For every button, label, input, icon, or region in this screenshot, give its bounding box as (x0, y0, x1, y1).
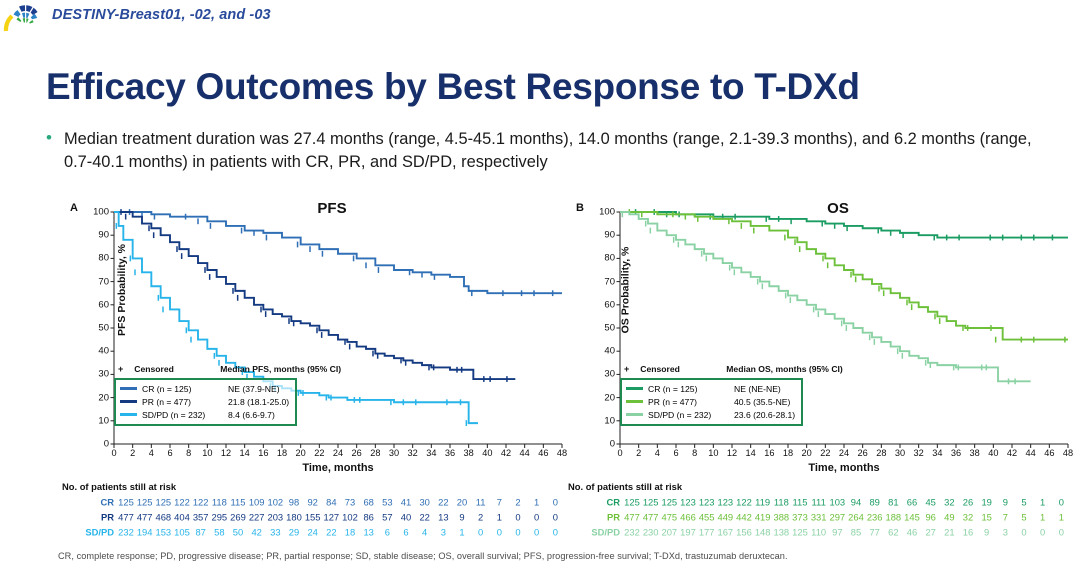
x-axis-tick: 18 (783, 448, 793, 458)
at-risk-value: 18 (345, 526, 355, 537)
at-risk-value: 86 (363, 511, 373, 522)
at-risk-value: 123 (699, 496, 715, 507)
km-curve (114, 212, 562, 293)
x-axis-tick: 48 (1063, 448, 1073, 458)
at-risk-value: 449 (718, 511, 734, 522)
at-risk-value: 11 (476, 496, 486, 507)
legend-median-value: NE (NE-NE) (734, 384, 781, 394)
x-axis-tick: 38 (464, 448, 474, 458)
at-risk-value: 269 (230, 511, 246, 522)
at-risk-value: 42 (251, 526, 261, 537)
at-risk-value: 102 (342, 511, 358, 522)
at-risk-value: 0 (1059, 496, 1064, 507)
at-risk-value: 0 (553, 526, 558, 537)
at-risk-value: 7 (497, 496, 502, 507)
legend-item[interactable]: CR (n = 125)NE (37.9-NE) (120, 382, 289, 395)
at-risk-value: 20 (457, 496, 467, 507)
at-risk-value: 156 (736, 526, 752, 537)
at-risk-value: 1 (1040, 496, 1045, 507)
at-risk-value: 9 (459, 511, 464, 522)
chart-legend: CR (n = 125)NE (37.9-NE)PR (n = 477)21.8… (114, 378, 297, 426)
x-axis-tick: 24 (839, 448, 849, 458)
at-risk-value: 66 (907, 496, 917, 507)
at-risk-table: No. of patients still at riskCR125125125… (62, 481, 572, 539)
at-risk-value: 21 (944, 526, 954, 537)
x-axis-tick: 8 (692, 448, 697, 458)
y-axis-tick: 0 (610, 439, 615, 450)
at-risk-value: 0 (1059, 526, 1064, 537)
at-risk-value: 5 (1021, 511, 1026, 522)
at-risk-value: 115 (793, 496, 808, 507)
x-axis-label: Time, months (620, 462, 1068, 474)
x-axis-tick: 16 (764, 448, 774, 458)
x-axis-tick: 36 (951, 448, 961, 458)
at-risk-value: 3 (1003, 526, 1008, 537)
x-axis-tick: 46 (538, 448, 548, 458)
x-axis-tick: 40 (482, 448, 492, 458)
at-risk-value: 89 (869, 496, 879, 507)
at-risk-value: 58 (214, 526, 224, 537)
at-risk-value: 40 (401, 511, 411, 522)
x-axis-tick: 16 (258, 448, 268, 458)
at-risk-value: 477 (137, 511, 153, 522)
x-axis-tick: 30 (895, 448, 905, 458)
at-risk-value: 92 (307, 496, 317, 507)
at-risk-value: 419 (755, 511, 771, 522)
at-risk-value: 297 (830, 511, 846, 522)
at-risk-value: 115 (231, 496, 246, 507)
slide-header: DESTINY-Breast01, -02, and -03 (0, 0, 1080, 34)
at-risk-value: 96 (925, 511, 935, 522)
at-risk-value: 57 (382, 511, 392, 522)
at-risk-value: 87 (195, 526, 205, 537)
x-axis-tick: 20 (296, 448, 306, 458)
x-axis-tick: 14 (746, 448, 756, 458)
at-risk-value: 236 (867, 511, 883, 522)
at-risk-value: 197 (680, 526, 696, 537)
x-axis-tick: 36 (445, 448, 455, 458)
legend-color-swatch (626, 387, 643, 390)
at-risk-value: 32 (944, 496, 954, 507)
abbreviations-footnote: CR, complete response; PD, progressive d… (58, 551, 788, 561)
at-risk-row-label: CR (568, 496, 620, 507)
x-axis-tick: 22 (314, 448, 324, 458)
chart-panel-pfs: APFSPFS Probability, %010203040506070809… (62, 200, 572, 545)
at-risk-value: 125 (792, 526, 808, 537)
x-axis-tick: 34 (426, 448, 436, 458)
at-risk-value: 466 (680, 511, 696, 522)
at-risk-value: 155 (305, 511, 321, 522)
y-axis-label: PFS Probability, % (116, 244, 128, 336)
legend-series-name: CR (n = 125) (648, 384, 734, 394)
x-axis-tick: 46 (1044, 448, 1054, 458)
y-axis-tick: 70 (604, 276, 615, 287)
bullet-dot-icon: • (46, 128, 52, 174)
at-risk-value: 2 (478, 511, 483, 522)
y-axis-tick: 10 (604, 415, 615, 426)
legend-item[interactable]: SD/PD (n = 232)8.4 (6.6-9.7) (120, 408, 289, 421)
at-risk-value: 123 (680, 496, 696, 507)
at-risk-value: 5 (1021, 496, 1026, 507)
chart-panel-os: BOSOS Probability, %01020304050607080901… (568, 200, 1078, 545)
x-axis-tick: 8 (186, 448, 191, 458)
at-risk-value: 30 (419, 496, 429, 507)
censored-plus-icon: + (624, 364, 629, 374)
legend-series-name: CR (n = 125) (142, 384, 228, 394)
y-axis-tick: 30 (98, 369, 109, 380)
at-risk-value: 29 (289, 526, 299, 537)
at-risk-value: 1 (1040, 511, 1045, 522)
y-axis-tick: 40 (604, 346, 615, 357)
at-risk-value: 127 (324, 511, 340, 522)
table-row: CR12512512512212211811510910298928473685… (62, 494, 572, 509)
at-risk-value: 230 (643, 526, 659, 537)
at-risk-value: 105 (174, 526, 190, 537)
y-axis-tick: 10 (98, 415, 109, 426)
legend-median-value: NE (37.9-NE) (228, 384, 280, 394)
at-risk-row-label: SD/PD (568, 526, 620, 537)
at-risk-value: 125 (662, 496, 678, 507)
at-risk-table: No. of patients still at riskCR125125125… (568, 481, 1078, 539)
censored-plus-icon: + (118, 364, 123, 374)
legend-color-swatch (120, 400, 137, 403)
y-axis-tick: 50 (604, 323, 615, 334)
y-axis-tick: 0 (104, 439, 109, 450)
at-risk-value: 97 (832, 526, 842, 537)
legend-color-swatch (626, 400, 643, 403)
x-axis-tick: 14 (240, 448, 250, 458)
at-risk-value: 3 (441, 526, 446, 537)
at-risk-value: 84 (326, 496, 336, 507)
at-risk-value: 22 (419, 511, 429, 522)
at-risk-value: 15 (981, 511, 991, 522)
x-axis-tick: 4 (655, 448, 660, 458)
at-risk-value: 0 (553, 496, 558, 507)
x-axis-tick: 26 (352, 448, 362, 458)
censor-marks (130, 209, 553, 296)
at-risk-value: 138 (774, 526, 790, 537)
at-risk-value: 477 (643, 511, 659, 522)
legend-color-swatch (120, 387, 137, 390)
at-risk-value: 0 (478, 526, 483, 537)
legend-median-value: 8.4 (6.6-9.7) (228, 410, 275, 420)
x-axis-tick: 0 (617, 448, 622, 458)
summary-bullet: • Median treatment duration was 27.4 mon… (46, 128, 1056, 174)
at-risk-value: 118 (774, 496, 789, 507)
x-axis-tick: 24 (333, 448, 343, 458)
y-axis-tick: 90 (98, 230, 109, 241)
y-axis-tick: 30 (604, 369, 615, 380)
at-risk-value: 357 (193, 511, 209, 522)
at-risk-row-label: PR (568, 511, 620, 522)
y-axis-tick: 70 (98, 276, 109, 287)
at-risk-value: 373 (792, 511, 808, 522)
at-risk-title: No. of patients still at risk (62, 481, 572, 492)
y-axis-tick: 60 (604, 299, 615, 310)
x-axis-tick: 44 (520, 448, 530, 458)
x-axis-ticks: 0246810121416182022242628303234363840424… (114, 444, 562, 462)
at-risk-value: 0 (534, 526, 539, 537)
legend-median-value: 23.6 (20.6-28.1) (734, 410, 795, 420)
y-axis-tick: 50 (98, 323, 109, 334)
at-risk-value: 125 (118, 496, 134, 507)
at-risk-value: 41 (401, 496, 411, 507)
table-row: CR12512512512312312312211911811511110394… (568, 494, 1078, 509)
at-risk-value: 180 (286, 511, 302, 522)
censor-marks (121, 209, 507, 382)
at-risk-value: 122 (193, 496, 209, 507)
at-risk-row-label: PR (62, 511, 114, 522)
legend-series-name: SD/PD (n = 232) (142, 410, 228, 420)
x-axis-tick: 0 (111, 448, 116, 458)
legend-item[interactable]: CR (n = 125)NE (NE-NE) (626, 382, 795, 395)
x-axis-tick: 48 (557, 448, 567, 458)
x-axis-ticks: 0246810121416182022242628303234363840424… (620, 444, 1068, 462)
x-axis-label: Time, months (114, 462, 562, 474)
at-risk-value: 102 (268, 496, 284, 507)
y-axis-tick: 100 (599, 207, 615, 218)
at-risk-value: 19 (981, 496, 991, 507)
at-risk-value: 0 (553, 511, 558, 522)
at-risk-value: 46 (907, 526, 917, 537)
x-axis-tick: 10 (708, 448, 718, 458)
at-risk-value: 32 (963, 511, 973, 522)
x-axis-tick: 12 (221, 448, 231, 458)
at-risk-value: 45 (925, 496, 935, 507)
x-axis-tick: 22 (820, 448, 830, 458)
at-risk-value: 207 (662, 526, 678, 537)
at-risk-value: 125 (624, 496, 640, 507)
at-risk-value: 49 (944, 511, 954, 522)
at-risk-value: 122 (736, 496, 752, 507)
legend-item[interactable]: PR (n = 477)21.8 (18.1-25.0) (120, 395, 289, 408)
km-curve (114, 212, 515, 379)
x-axis-tick: 44 (1026, 448, 1036, 458)
table-row: PR47747746840435729526922720318015512710… (62, 509, 572, 524)
at-risk-value: 0 (515, 511, 520, 522)
at-risk-value: 1 (459, 526, 464, 537)
x-axis-tick: 30 (389, 448, 399, 458)
at-risk-value: 9 (984, 526, 989, 537)
at-risk-value: 232 (624, 526, 640, 537)
at-risk-row-label: SD/PD (62, 526, 114, 537)
at-risk-value: 111 (812, 496, 826, 507)
legend-median-value: 40.5 (35.5-NE) (734, 397, 790, 407)
at-risk-value: 33 (270, 526, 280, 537)
legend-series-name: PR (n = 477) (142, 397, 228, 407)
y-axis-tick: 40 (98, 346, 109, 357)
x-axis-tick: 6 (673, 448, 678, 458)
at-risk-value: 232 (118, 526, 134, 537)
legend-header: +CensoredMedian PFS, months (95% CI) (118, 364, 341, 374)
at-risk-value: 203 (268, 511, 284, 522)
x-axis-tick: 26 (858, 448, 868, 458)
at-risk-value: 1 (1059, 511, 1064, 522)
at-risk-title: No. of patients still at risk (568, 481, 1078, 492)
study-name-label: DESTINY-Breast01, -02, and -03 (52, 7, 271, 23)
at-risk-value: 24 (307, 526, 317, 537)
at-risk-value: 295 (212, 511, 228, 522)
bullet-text: Median treatment duration was 27.4 month… (64, 128, 1049, 174)
at-risk-value: 455 (699, 511, 715, 522)
legend-item[interactable]: PR (n = 477)40.5 (35.5-NE) (626, 395, 795, 408)
at-risk-value: 188 (886, 511, 902, 522)
at-risk-value: 85 (851, 526, 861, 537)
at-risk-value: 177 (699, 526, 715, 537)
at-risk-value: 118 (212, 496, 227, 507)
x-axis-tick: 20 (802, 448, 812, 458)
at-risk-value: 22 (438, 496, 448, 507)
at-risk-value: 0 (497, 526, 502, 537)
at-risk-value: 123 (718, 496, 734, 507)
at-risk-value: 110 (811, 526, 826, 537)
y-axis-tick: 60 (98, 299, 109, 310)
at-risk-value: 475 (662, 511, 678, 522)
at-risk-value: 109 (249, 496, 265, 507)
destiny-fan-logo (4, 2, 46, 32)
at-risk-value: 1 (497, 511, 502, 522)
at-risk-value: 77 (869, 526, 879, 537)
at-risk-value: 442 (736, 511, 752, 522)
table-row: SD/PD23219415310587585042332924221813664… (62, 524, 572, 539)
at-risk-value: 22 (326, 526, 336, 537)
at-risk-row-label: CR (62, 496, 114, 507)
legend-color-swatch (626, 413, 643, 416)
table-row: SD/PD23223020719717716715614813812511097… (568, 524, 1078, 539)
x-axis-tick: 4 (149, 448, 154, 458)
at-risk-value: 331 (811, 511, 827, 522)
at-risk-value: 148 (755, 526, 771, 537)
at-risk-value: 94 (851, 496, 861, 507)
x-axis-tick: 28 (370, 448, 380, 458)
at-risk-value: 4 (422, 526, 427, 537)
at-risk-value: 0 (1021, 526, 1026, 537)
x-axis-tick: 28 (876, 448, 886, 458)
at-risk-value: 13 (438, 511, 448, 522)
y-axis-tick: 80 (98, 253, 109, 264)
at-risk-value: 227 (249, 511, 265, 522)
at-risk-value: 404 (174, 511, 190, 522)
at-risk-value: 119 (755, 496, 770, 507)
at-risk-value: 122 (174, 496, 190, 507)
at-risk-value: 26 (963, 496, 973, 507)
legend-series-name: PR (n = 477) (648, 397, 734, 407)
at-risk-value: 468 (156, 511, 172, 522)
at-risk-value: 73 (345, 496, 355, 507)
x-axis-tick: 6 (167, 448, 172, 458)
at-risk-value: 125 (643, 496, 659, 507)
at-risk-value: 167 (718, 526, 734, 537)
at-risk-value: 1 (534, 496, 539, 507)
x-axis-tick: 42 (501, 448, 511, 458)
at-risk-value: 103 (830, 496, 846, 507)
x-axis-tick: 12 (727, 448, 737, 458)
at-risk-value: 62 (888, 526, 898, 537)
at-risk-value: 264 (848, 511, 864, 522)
x-axis-tick: 40 (988, 448, 998, 458)
page-title: Efficacy Outcomes by Best Response to T-… (46, 66, 860, 108)
legend-censored-label: Censored (134, 364, 220, 374)
at-risk-value: 27 (925, 526, 935, 537)
at-risk-value: 13 (363, 526, 373, 537)
x-axis-tick: 10 (202, 448, 212, 458)
y-axis-tick: 100 (93, 207, 109, 218)
legend-median-value: 21.8 (18.1-25.0) (228, 397, 289, 407)
at-risk-value: 7 (1003, 511, 1008, 522)
at-risk-value: 0 (534, 511, 539, 522)
at-risk-value: 50 (233, 526, 243, 537)
legend-median-label: Median PFS, months (95% CI) (220, 364, 341, 374)
legend-median-label: Median OS, months (95% CI) (726, 364, 843, 374)
x-axis-tick: 18 (277, 448, 287, 458)
legend-color-swatch (120, 413, 137, 416)
x-axis-tick: 42 (1007, 448, 1017, 458)
y-axis-tick: 20 (98, 392, 109, 403)
at-risk-value: 98 (289, 496, 299, 507)
y-axis-tick: 80 (604, 253, 615, 264)
at-risk-value: 16 (963, 526, 973, 537)
y-axis-label: OS Probability, % (619, 247, 631, 334)
at-risk-value: 68 (363, 496, 373, 507)
km-curve (620, 212, 1068, 238)
table-row: PR47747747546645544944241938837333129726… (568, 509, 1078, 524)
at-risk-value: 2 (515, 496, 520, 507)
at-risk-value: 477 (118, 511, 134, 522)
x-axis-tick: 2 (130, 448, 135, 458)
legend-series-name: SD/PD (n = 232) (648, 410, 734, 420)
at-risk-value: 194 (137, 526, 153, 537)
chart-legend: CR (n = 125)NE (NE-NE)PR (n = 477)40.5 (… (620, 378, 803, 426)
at-risk-value: 6 (403, 526, 408, 537)
at-risk-value: 477 (624, 511, 640, 522)
legend-item[interactable]: SD/PD (n = 232)23.6 (20.6-28.1) (626, 408, 795, 421)
at-risk-value: 125 (156, 496, 172, 507)
at-risk-value: 53 (382, 496, 392, 507)
at-risk-value: 6 (385, 526, 390, 537)
at-risk-value: 81 (888, 496, 898, 507)
y-axis-tick: 90 (604, 230, 615, 241)
legend-censored-label: Censored (640, 364, 726, 374)
x-axis-tick: 32 (408, 448, 418, 458)
legend-header: +CensoredMedian OS, months (95% CI) (624, 364, 843, 374)
at-risk-value: 9 (1003, 496, 1008, 507)
at-risk-value: 145 (904, 511, 920, 522)
y-axis-tick: 20 (604, 392, 615, 403)
at-risk-value: 153 (156, 526, 172, 537)
x-axis-tick: 32 (914, 448, 924, 458)
at-risk-value: 0 (515, 526, 520, 537)
x-axis-tick: 2 (636, 448, 641, 458)
at-risk-value: 388 (774, 511, 790, 522)
x-axis-tick: 38 (970, 448, 980, 458)
x-axis-tick: 34 (932, 448, 942, 458)
at-risk-value: 0 (1040, 526, 1045, 537)
at-risk-value: 125 (137, 496, 153, 507)
